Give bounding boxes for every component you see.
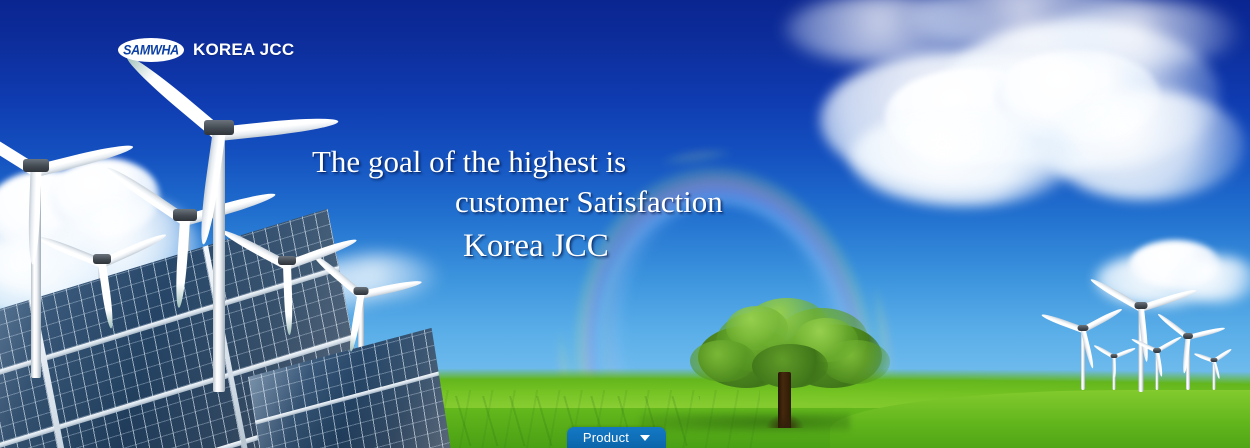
wind-turbine-right-1 <box>1138 306 1144 392</box>
product-tab-button[interactable]: Product <box>567 427 666 448</box>
wind-turbine-right-6 <box>1212 360 1216 390</box>
oak-tree <box>690 296 890 432</box>
chevron-down-icon <box>640 435 650 441</box>
wind-turbine-left-large <box>212 130 225 392</box>
samwha-mark-text: SAMWHA <box>123 42 179 58</box>
wind-turbine-foreground-left <box>30 168 41 378</box>
site-logo[interactable]: SAMWHA KOREA JCC <box>118 38 294 62</box>
wind-turbine-right-3 <box>1185 336 1190 390</box>
wind-turbine-right-2 <box>1080 328 1085 390</box>
hero-banner: SAMWHA KOREA JCC The goal of the highest… <box>0 0 1250 448</box>
product-tab-label: Product <box>583 431 629 444</box>
samwha-oval-logo-icon: SAMWHA <box>118 38 184 62</box>
wind-turbine-right-5 <box>1112 356 1116 390</box>
wind-turbine-right-4 <box>1155 350 1159 390</box>
korea-jcc-wordmark: KOREA JCC <box>193 40 294 60</box>
